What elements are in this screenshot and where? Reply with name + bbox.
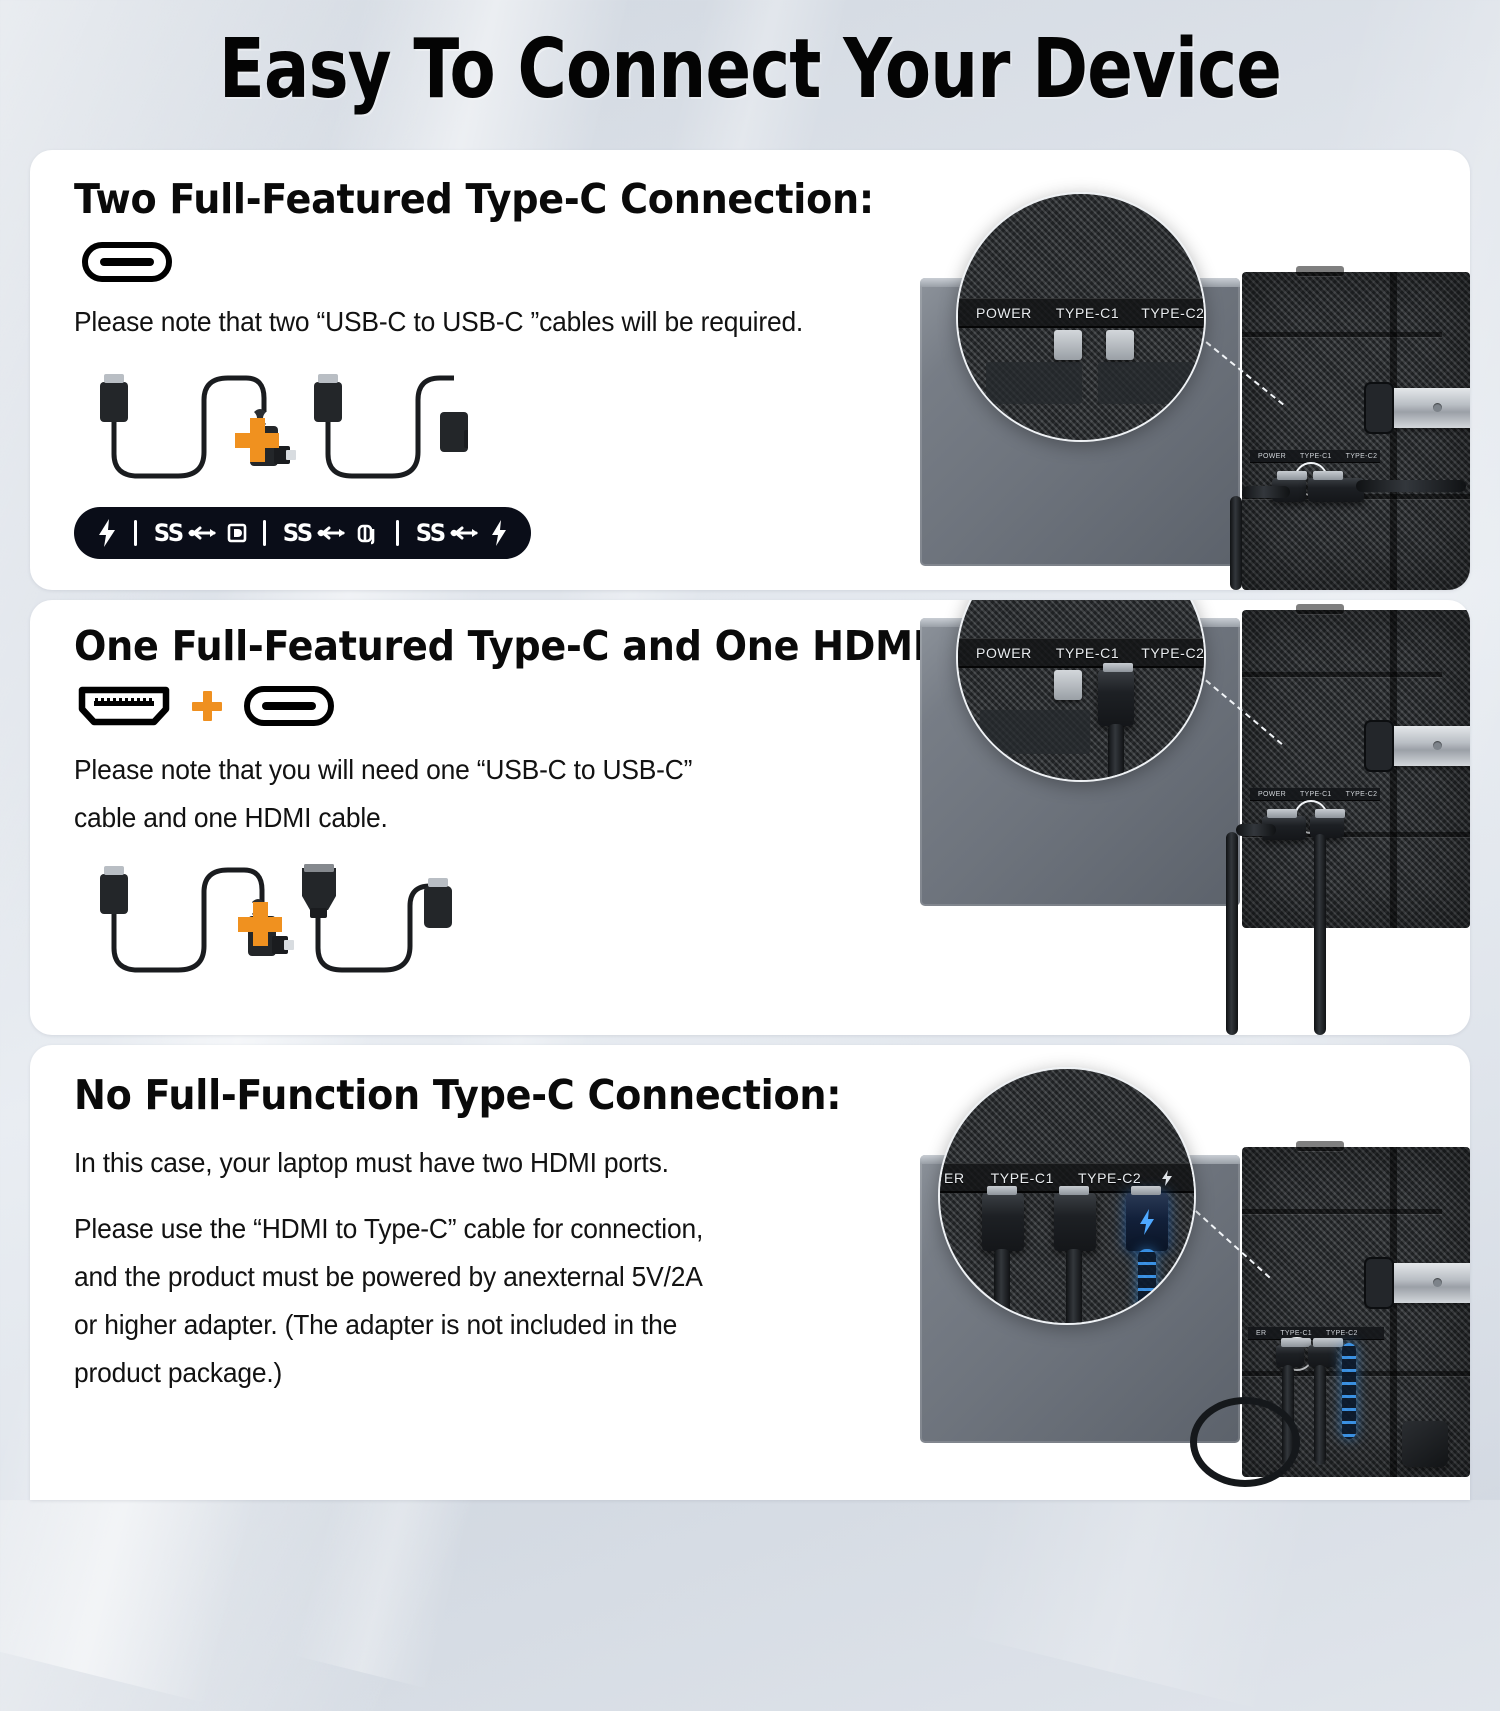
- plus-sign-icon: [235, 418, 279, 462]
- port-label-type-c2: TYPE-C2: [1078, 1170, 1141, 1186]
- port-label-power-partial: ER: [944, 1170, 965, 1186]
- usb-c-plug: [424, 878, 452, 928]
- port-label-strip: POWER TYPE-C1 TYPE-C2: [958, 298, 1204, 328]
- paragraph-line-4: product package.): [74, 1349, 282, 1397]
- section-title: No Full-Function Type-C Connection:: [74, 1071, 841, 1119]
- device-base-edge: [986, 362, 1082, 404]
- port-label-type-c2: TYPE-C2: [1141, 645, 1204, 661]
- glowing-power-cable: [1138, 1249, 1156, 1325]
- usb-c-port-icon: [244, 686, 334, 726]
- cable-cord: [1356, 480, 1466, 492]
- type-c2-plugged-connector: [1098, 670, 1134, 726]
- device-top-tab: [1296, 604, 1344, 614]
- port-label-type-c2: TYPE-C2: [1346, 791, 1378, 798]
- port-label-type-c2: TYPE-C2: [1326, 1330, 1358, 1337]
- page-title: Easy To Connect Your Device: [135, 22, 1365, 118]
- device-top-tab: [1296, 1141, 1344, 1151]
- port-icon-row: [82, 242, 172, 282]
- port-label-type-c1: TYPE-C1: [1056, 305, 1119, 321]
- port-label-power: ER: [1256, 1330, 1266, 1337]
- plugged-cable-connector: [1276, 1345, 1304, 1367]
- data-transfer-icon: [356, 521, 380, 545]
- bolt-icon: [96, 518, 118, 548]
- port-icon-row: [78, 685, 334, 727]
- power-adapter: [1402, 1421, 1448, 1467]
- plus-sign-icon: [192, 691, 222, 721]
- plugged-cable-connector: [1308, 1345, 1336, 1367]
- device-seam: [1242, 332, 1442, 337]
- port-label-type-c1: TYPE-C1: [1300, 453, 1332, 460]
- usb-trident-icon: [450, 520, 484, 546]
- device-top-tab: [1296, 266, 1344, 276]
- usb-trident-icon: [317, 520, 351, 546]
- port-label-power: POWER: [1258, 453, 1286, 460]
- port-label-power: POWER: [976, 645, 1032, 661]
- device-port-strip: POWER TYPE-C1 TYPE-C2: [1250, 450, 1380, 463]
- port-label-power: POWER: [976, 305, 1032, 321]
- cable-cord: [1236, 824, 1276, 836]
- badge-superspeed-power-delivery: SS: [415, 519, 510, 547]
- section-note: Please note that two “USB-C to USB-C ”ca…: [74, 298, 938, 346]
- dock-device-body: [1242, 272, 1470, 590]
- displayport-icon: [227, 521, 247, 545]
- ss-label: SS: [415, 519, 444, 547]
- coiled-cable: [1190, 1397, 1300, 1487]
- port-label-type-c1: TYPE-C1: [1280, 1330, 1312, 1337]
- bolt-icon: [1137, 1207, 1157, 1237]
- thunderbolt-power-connector: [1126, 1193, 1168, 1251]
- badge-divider: [396, 520, 399, 546]
- section-note-line-1: Please note that you will need one “USB-…: [74, 746, 692, 794]
- badge-superspeed-displayport: SS: [153, 519, 248, 547]
- device-base-edge: [1098, 362, 1194, 404]
- cable-cord: [1066, 1249, 1082, 1325]
- product-photo-type-c-and-hdmi: POWER TYPE-C1 TYPE-C2 POWER TYPE-C1 TYPE…: [890, 600, 1470, 1035]
- bolt-icon: [489, 519, 509, 547]
- port-label-type-c1: TYPE-C1: [991, 1170, 1054, 1186]
- cable-cord: [1230, 496, 1242, 590]
- usb-flash-drive: [1390, 726, 1470, 766]
- section-card-type-c-and-hdmi: One Full-Featured Type-C and One HDMI Co…: [30, 600, 1470, 1035]
- device-seam: [1390, 1147, 1397, 1477]
- type-c1-socket: [1054, 670, 1082, 700]
- paragraph-line-1: Please use the “HDMI to Type-C” cable fo…: [74, 1205, 703, 1253]
- badge-divider: [134, 520, 137, 546]
- type-c2-plugged-connector: [1054, 1193, 1096, 1251]
- hdmi-plug: [302, 864, 336, 918]
- hdmi-port-icon: [78, 685, 170, 727]
- product-photo-no-full-function: ER TYPE-C1 TYPE-C2 ER TYPE-C1 TYPE-C2: [890, 1045, 1470, 1500]
- usb-c-angled-plug: [440, 412, 468, 452]
- ss-label: SS: [282, 519, 311, 547]
- port-magnifier-loupe: ER TYPE-C1 TYPE-C2: [938, 1067, 1196, 1325]
- section-card-no-full-function: No Full-Function Type-C Connection: In t…: [30, 1045, 1470, 1500]
- type-c2-socket: [1106, 330, 1134, 360]
- bolt-icon: [1161, 1170, 1173, 1186]
- badge-divider: [263, 520, 266, 546]
- glowing-power-cable: [1342, 1343, 1356, 1439]
- usb-flash-drive: [1390, 1263, 1470, 1303]
- port-label-type-c1: TYPE-C1: [1056, 645, 1119, 661]
- usb-c-plug: [314, 374, 342, 422]
- port-label-type-c2: TYPE-C2: [1346, 453, 1378, 460]
- cable-cord: [1314, 834, 1326, 1035]
- dock-device-body: [1242, 610, 1470, 928]
- device-seam: [1242, 672, 1442, 677]
- cable-cord: [1108, 724, 1124, 782]
- type-c1-plugged-connector: [982, 1193, 1024, 1251]
- port-label-type-c1: TYPE-C1: [1300, 791, 1332, 798]
- product-photo-two-type-c: POWER TYPE-C1 TYPE-C2 POWER TYPE-C1 TYPE…: [890, 150, 1470, 590]
- badge-superspeed-data: SS: [282, 519, 381, 547]
- type-c1-socket: [1054, 330, 1082, 360]
- section-note-line-1: In this case, your laptop must have two …: [74, 1139, 669, 1187]
- section-title: Two Full-Featured Type-C Connection:: [74, 175, 874, 223]
- usb-trident-icon: [188, 520, 222, 546]
- plugged-cable-connector: [1308, 478, 1364, 502]
- device-base-edge: [980, 710, 1090, 754]
- usb-c-plug: [100, 374, 128, 422]
- cable-cord: [1226, 832, 1238, 1035]
- port-label-strip: POWER TYPE-C1 TYPE-C2: [958, 638, 1204, 668]
- cable-cord: [994, 1249, 1010, 1325]
- usb-c-plug: [100, 866, 128, 914]
- paragraph-line-2: and the product must be powered by anext…: [74, 1253, 703, 1301]
- device-seam: [1242, 1209, 1442, 1214]
- paragraph-line-3: or higher adapter. (The adapter is not i…: [74, 1301, 677, 1349]
- plus-sign-icon: [238, 902, 282, 946]
- usb-flash-drive: [1390, 388, 1470, 428]
- usb-c-port-icon: [82, 242, 172, 282]
- badge-thunderbolt: [96, 518, 118, 548]
- port-magnifier-loupe: POWER TYPE-C1 TYPE-C2: [956, 600, 1206, 782]
- device-port-strip: POWER TYPE-C1 TYPE-C2: [1250, 788, 1380, 801]
- cable-cord: [1314, 1365, 1326, 1465]
- cable-cord: [1242, 486, 1290, 498]
- section-note-line-2: cable and one HDMI cable.: [74, 794, 388, 842]
- port-label-power: POWER: [1258, 791, 1286, 798]
- port-magnifier-loupe: POWER TYPE-C1 TYPE-C2: [956, 192, 1206, 442]
- feature-badge-bar: SS SS SS: [74, 507, 531, 559]
- ss-label: SS: [153, 519, 182, 547]
- device-seam: [1242, 1371, 1470, 1376]
- section-card-two-type-c: Two Full-Featured Type-C Connection: Ple…: [30, 150, 1470, 590]
- port-label-type-c2: TYPE-C2: [1141, 305, 1204, 321]
